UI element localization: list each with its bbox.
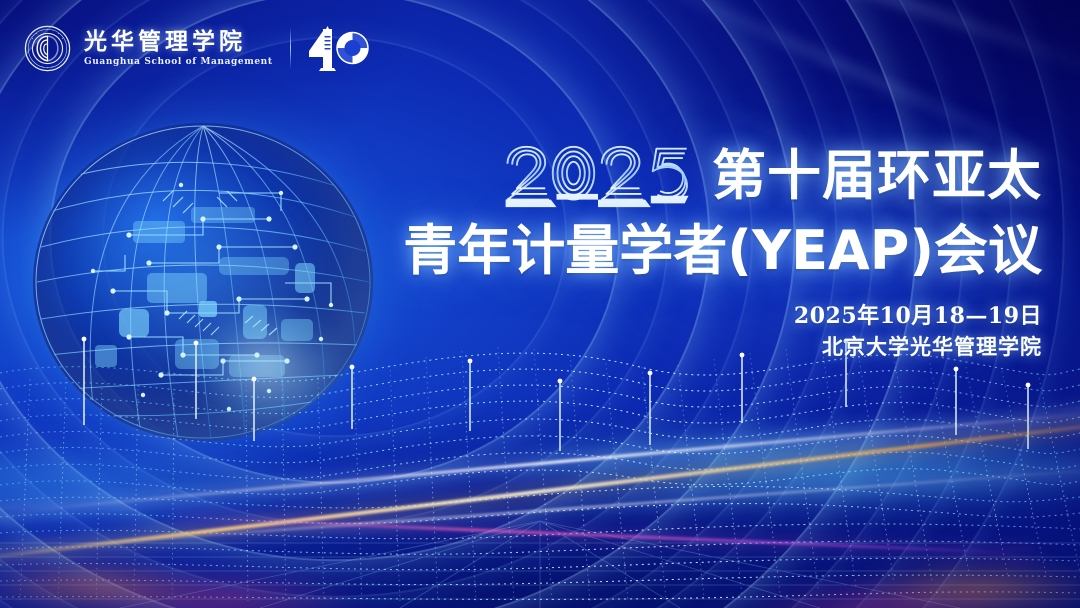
wireframe-terrain-mesh [0,333,1080,608]
year-badge-2025 [502,143,694,209]
school-name-en: Guanghua School of Management [84,57,273,67]
title-block: 第十届环亚太 青年计量学者(YEAP)会议 2025年10月18—19日 北京大… [382,140,1042,362]
logo-divider [290,27,291,69]
conference-poster: 光华管理学院 Guanghua School of Management [0,0,1080,608]
headline-sub: 青年计量学者(YEAP)会议 [382,222,1042,279]
ember-glow-left [0,537,475,608]
school-name-cn: 光华管理学院 [84,30,273,53]
school-name-block: 光华管理学院 Guanghua School of Management [84,30,273,67]
header-logo: 光华管理学院 Guanghua School of Management [24,22,370,74]
peking-university-seal-icon [24,25,71,72]
headline-row: 第十届环亚太 [382,140,1042,212]
event-date: 2025年10月18—19日 [382,301,1042,332]
anniversary-40-icon [308,25,370,71]
event-meta: 2025年10月18—19日 北京大学光华管理学院 [382,301,1042,362]
event-venue: 北京大学光华管理学院 [382,332,1042,362]
headline-main: 第十届环亚太 [712,149,1042,203]
ember-glow-right [648,542,1080,608]
